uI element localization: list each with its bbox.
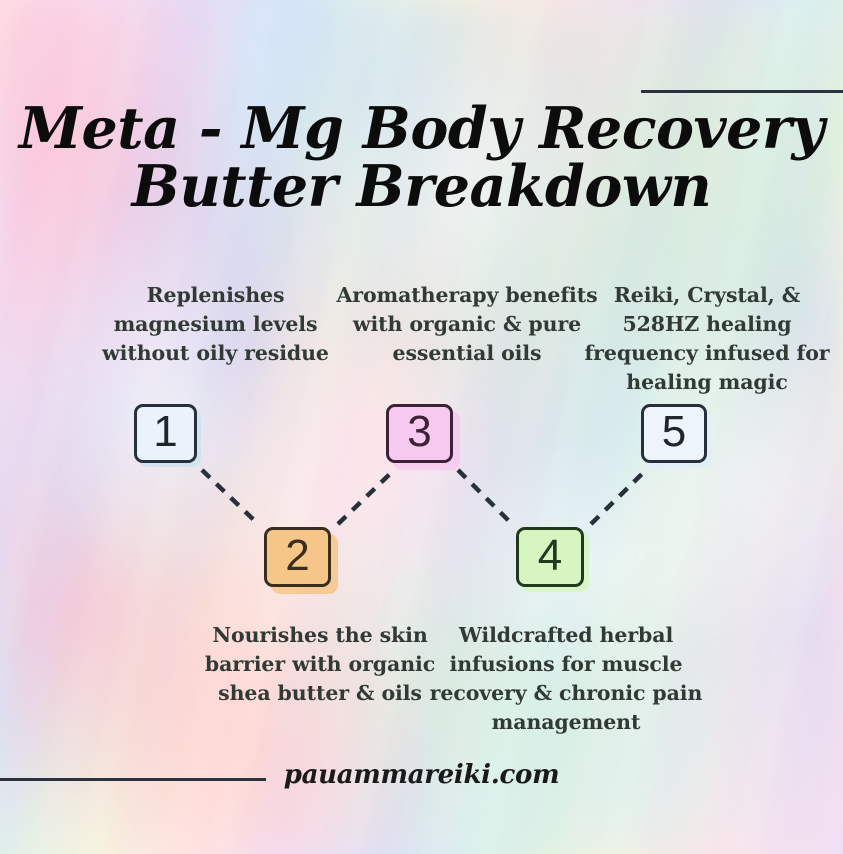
step-caption-2: Nourishes the skin barrier with organic …	[181, 621, 459, 708]
step-number-label-5: 5	[662, 410, 686, 454]
step-caption-4: Wildcrafted herbal infusions for muscle …	[427, 621, 705, 737]
step-number-label-3: 3	[407, 410, 431, 454]
step-number-box-4[interactable]: 4	[516, 527, 584, 587]
connector-2-to-3	[338, 470, 394, 524]
step-number-label-4: 4	[538, 534, 562, 578]
footer-website-url[interactable]: pauammareiki.com	[0, 760, 843, 790]
connector-4-to-5	[591, 470, 646, 524]
connector-3-to-4	[458, 470, 512, 524]
step-caption-5: Reiki, Crystal, & 528HZ healing frequenc…	[578, 281, 836, 397]
step-number-label-2: 2	[285, 534, 309, 578]
decorative-rule-top-right	[641, 90, 843, 93]
step-number-box-5[interactable]: 5	[641, 404, 707, 463]
page-title-line-2: Butter Breakdown	[0, 158, 843, 216]
step-caption-3: Aromatherapy benefits with organic & pur…	[332, 281, 602, 368]
step-number-label-1: 1	[153, 410, 177, 454]
infographic-canvas: Meta - Mg Body Recovery Butter Breakdown…	[0, 0, 843, 854]
page-title-line-1: Meta - Mg Body Recovery	[0, 100, 843, 158]
step-number-box-2[interactable]: 2	[264, 527, 331, 587]
step-number-box-3[interactable]: 3	[386, 404, 453, 463]
connector-1-to-2	[202, 470, 258, 524]
step-number-box-1[interactable]: 1	[134, 404, 197, 463]
page-title: Meta - Mg Body Recovery Butter Breakdown	[0, 100, 843, 216]
step-caption-1: Replenishes magnesium levels without oil…	[78, 281, 353, 368]
